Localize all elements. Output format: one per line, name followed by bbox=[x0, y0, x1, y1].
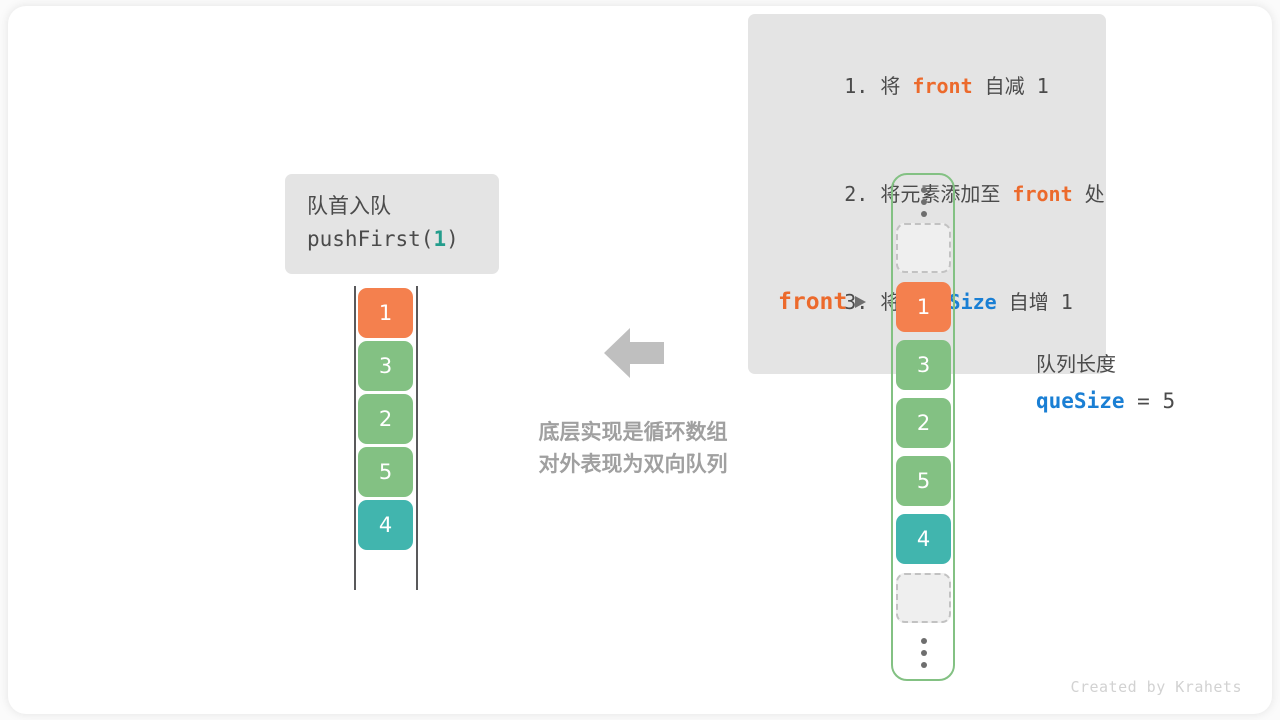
array-cell: 1 bbox=[896, 282, 951, 332]
array-cell: 3 bbox=[896, 340, 951, 390]
array-cell-empty bbox=[896, 223, 951, 273]
instruction-line: 1. 将 front 自减 1 bbox=[772, 32, 1084, 140]
instruction-suffix: 自增 1 bbox=[997, 290, 1073, 314]
operation-code-arg: 1 bbox=[433, 227, 446, 251]
operation-label-panel: 队首入队 pushFirst(1) bbox=[285, 174, 499, 274]
center-caption: 底层实现是循环数组 对外表现为双向队列 bbox=[508, 416, 758, 480]
array-cell: 3 bbox=[358, 341, 413, 391]
array-boundary-line-left bbox=[354, 286, 356, 590]
array-cell: 5 bbox=[896, 456, 951, 506]
operation-code-suffix: ) bbox=[446, 227, 459, 251]
circular-array-container: 1 3 2 5 4 bbox=[891, 173, 955, 681]
instruction-suffix: 自减 1 bbox=[973, 74, 1049, 98]
array-cell: 1 bbox=[358, 288, 413, 338]
arrow-right-icon bbox=[855, 296, 866, 308]
instruction-suffix: 处 bbox=[1073, 182, 1105, 206]
front-pointer: front bbox=[778, 289, 866, 315]
instruction-prefix: 1. 将 bbox=[844, 74, 912, 98]
array-cell: 2 bbox=[358, 394, 413, 444]
operation-code: pushFirst(1) bbox=[307, 222, 479, 256]
queue-size-equals: = 5 bbox=[1125, 389, 1176, 413]
operation-code-prefix: pushFirst( bbox=[307, 227, 433, 251]
array-boundary-line-right bbox=[416, 286, 418, 590]
queue-size-title: 队列长度 bbox=[1036, 346, 1175, 383]
keyword-front: front bbox=[912, 74, 972, 98]
array-cell: 4 bbox=[896, 514, 951, 564]
keyword-front: front bbox=[1012, 182, 1072, 206]
array-cell-empty bbox=[896, 573, 951, 623]
arrow-left-icon bbox=[604, 325, 664, 381]
diagram-canvas: 1. 将 front 自减 1 2. 将元素添加至 front 处 3. 将 q… bbox=[8, 6, 1272, 714]
array-cell: 5 bbox=[358, 447, 413, 497]
queue-size-value: queSize = 5 bbox=[1036, 383, 1175, 420]
vertical-ellipsis-icon bbox=[896, 187, 951, 217]
caption-line-2: 对外表现为双向队列 bbox=[508, 448, 758, 480]
left-array: 1 3 2 5 4 bbox=[354, 286, 418, 590]
front-pointer-label: front bbox=[778, 289, 847, 315]
array-cell: 2 bbox=[896, 398, 951, 448]
caption-line-1: 底层实现是循环数组 bbox=[508, 416, 758, 448]
queue-size-note: 队列长度 queSize = 5 bbox=[1036, 346, 1175, 420]
array-cell: 4 bbox=[358, 500, 413, 550]
credit-text: Created by Krahets bbox=[1070, 678, 1242, 696]
vertical-ellipsis-icon bbox=[896, 638, 951, 668]
keyword-quesize: queSize bbox=[1036, 389, 1125, 413]
operation-title: 队首入队 bbox=[307, 190, 479, 222]
